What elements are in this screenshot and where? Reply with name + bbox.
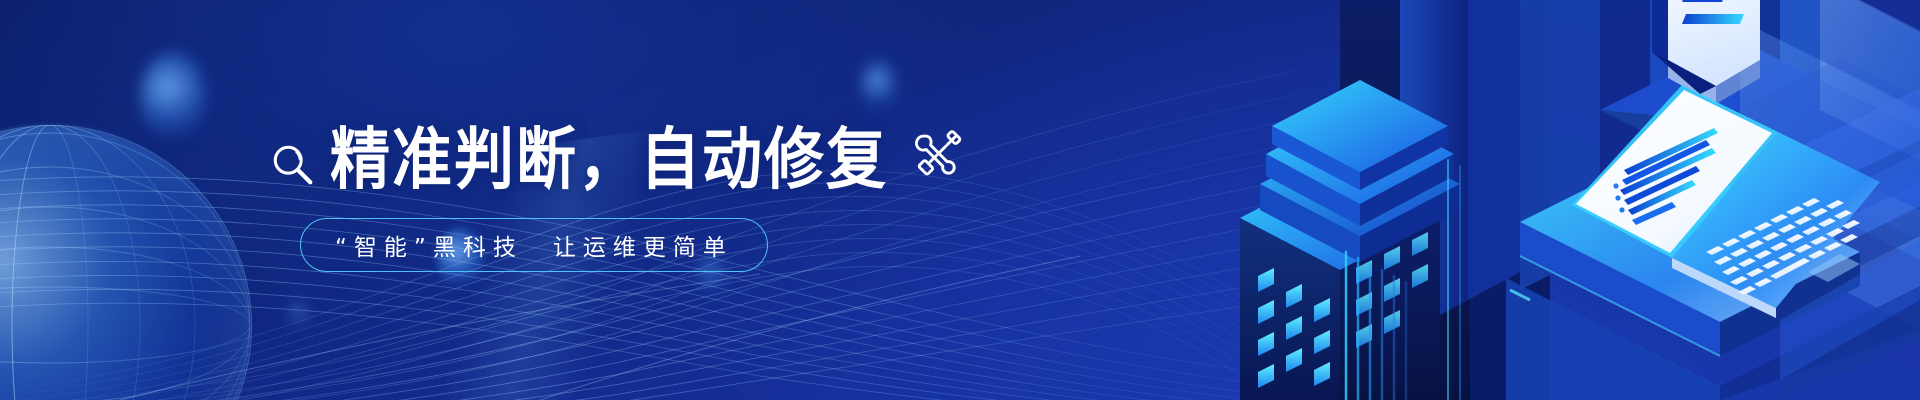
- sphere-ring: [0, 125, 252, 400]
- isometric-illustration: [1220, 0, 1920, 400]
- wrench-screwdriver-icon: [910, 128, 964, 182]
- headline-block: 精准判断，自动修复 “智能”黑科技 让运维更简单: [270, 122, 1090, 272]
- hero-banner: 精准判断，自动修复 “智能”黑科技 让运维更简单: [0, 0, 1920, 400]
- subtitle-pill: “智能”黑科技 让运维更简单: [300, 218, 768, 272]
- bokeh-particle: [862, 60, 896, 112]
- glow-sphere: [0, 125, 250, 400]
- headline-text: 精准判断，自动修复: [330, 126, 888, 193]
- search-icon: [270, 142, 316, 188]
- bokeh-particle: [140, 52, 206, 144]
- bokeh-particle: [288, 300, 310, 330]
- subtitle-text: “智能”黑科技 让运维更简单: [335, 228, 733, 262]
- headline-row: 精准判断，自动修复: [270, 122, 1090, 198]
